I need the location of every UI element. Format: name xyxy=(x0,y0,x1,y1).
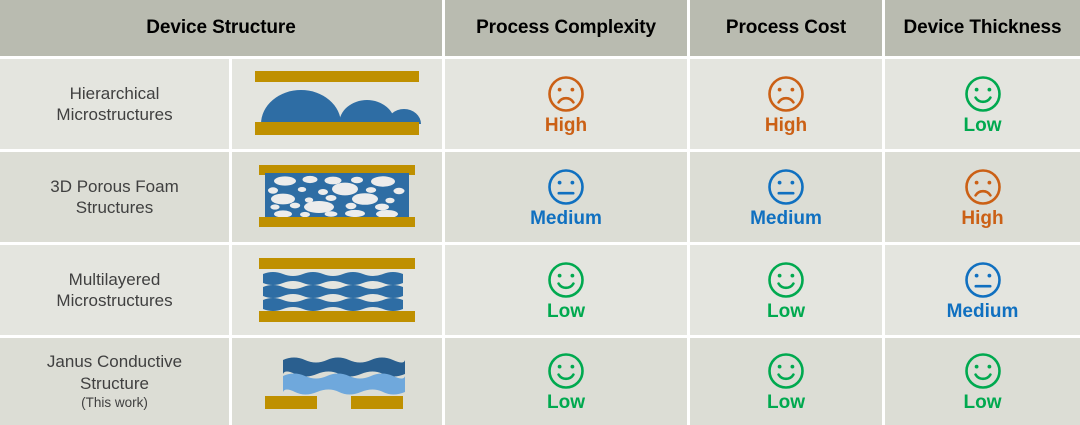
porous-foam-diagram xyxy=(232,152,442,242)
smile-face-icon xyxy=(546,260,586,300)
process-complexity-rating: Low xyxy=(445,338,687,425)
process-complexity-rating: High xyxy=(445,59,687,149)
rating-value: Low xyxy=(964,393,1002,412)
rating-value: Low xyxy=(547,393,585,412)
device-thickness-rating: Low xyxy=(885,59,1080,149)
structure-name-line1: 3D Porous Foam xyxy=(50,176,179,197)
structure-name-label: Janus Conductive Structure (This work) xyxy=(0,338,229,425)
structure-name-line1: Hierarchical xyxy=(70,83,160,104)
sad-face-icon xyxy=(546,74,586,114)
multilayer-wavy-diagram xyxy=(232,245,442,335)
rating-value: Medium xyxy=(750,209,822,228)
rating-value: Low xyxy=(767,393,805,412)
structure-name-label: Hierarchical Microstructures xyxy=(0,59,229,149)
process-complexity-rating: Medium xyxy=(445,152,687,242)
header-device-structure: Device Structure xyxy=(0,0,442,56)
rating-value: Medium xyxy=(530,209,602,228)
header-device-thickness: Device Thickness xyxy=(885,0,1080,56)
sad-face-icon xyxy=(766,74,806,114)
janus-bilayer-diagram xyxy=(232,338,442,425)
smile-face-icon xyxy=(963,74,1003,114)
header-process-complexity: Process Complexity xyxy=(445,0,687,56)
table-row: Hierarchical Microstructures Hig xyxy=(0,59,1080,149)
structure-name-line2: Microstructures xyxy=(56,104,172,125)
neutral-face-icon xyxy=(963,260,1003,300)
structure-name-line1: Janus Conductive xyxy=(47,351,182,372)
neutral-face-icon xyxy=(766,167,806,207)
process-cost-rating: High xyxy=(690,59,882,149)
device-structure-cell: Hierarchical Microstructures xyxy=(0,59,442,149)
comparison-table: Device Structure Process Complexity Proc… xyxy=(0,0,1080,407)
process-cost-rating: Medium xyxy=(690,152,882,242)
structure-name-label: 3D Porous Foam Structures xyxy=(0,152,229,242)
rating-value: High xyxy=(765,116,807,135)
device-thickness-rating: High xyxy=(885,152,1080,242)
smile-face-icon xyxy=(546,351,586,391)
table-header-row: Device Structure Process Complexity Proc… xyxy=(0,0,1080,56)
structure-name-line2: Structures xyxy=(76,197,153,218)
neutral-face-icon xyxy=(546,167,586,207)
rating-value: Low xyxy=(964,116,1002,135)
process-cost-rating: Low xyxy=(690,338,882,425)
device-structure-cell: Multilayered Microstructures xyxy=(0,245,442,335)
process-cost-rating: Low xyxy=(690,245,882,335)
device-thickness-rating: Medium xyxy=(885,245,1080,335)
smile-face-icon xyxy=(766,351,806,391)
table-row: Janus Conductive Structure (This work) xyxy=(0,338,1080,425)
device-thickness-rating: Low xyxy=(885,338,1080,425)
rating-value: Low xyxy=(547,302,585,321)
rating-value: High xyxy=(961,209,1003,228)
table-row: Multilayered Microstructures Low xyxy=(0,245,1080,335)
smile-face-icon xyxy=(766,260,806,300)
rating-value: Medium xyxy=(947,302,1019,321)
structure-name-line2: Structure xyxy=(80,373,149,394)
device-structure-cell: 3D Porous Foam Structures xyxy=(0,152,442,242)
hierarchical-domes-diagram xyxy=(232,59,442,149)
structure-name-label: Multilayered Microstructures xyxy=(0,245,229,335)
device-structure-cell: Janus Conductive Structure (This work) xyxy=(0,338,442,425)
smile-face-icon xyxy=(963,351,1003,391)
rating-value: High xyxy=(545,116,587,135)
process-complexity-rating: Low xyxy=(445,245,687,335)
rating-value: Low xyxy=(767,302,805,321)
header-process-cost: Process Cost xyxy=(690,0,882,56)
structure-name-line1: Multilayered xyxy=(69,269,161,290)
sad-face-icon xyxy=(963,167,1003,207)
table-row: 3D Porous Foam Structures xyxy=(0,152,1080,242)
structure-name-line2: Microstructures xyxy=(56,290,172,311)
structure-name-note: (This work) xyxy=(81,395,148,412)
